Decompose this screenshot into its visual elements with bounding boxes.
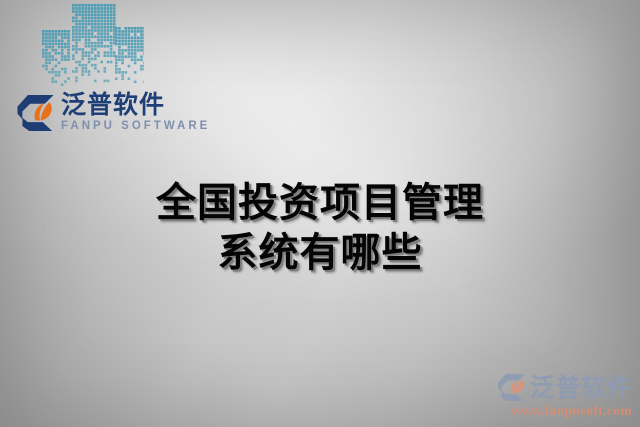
page-title-line-2: 系统有哪些 (0, 228, 640, 278)
promo-banner: 泛普软件 FANPU SOFTWARE 全国投资项目管理 系统有哪些 泛普软件 … (0, 0, 640, 427)
watermark: 泛普软件 www.fanpusoft.com (472, 373, 632, 419)
fanpu-watermark-mark (497, 373, 526, 402)
brand-logo: 泛普软件 FANPU SOFTWARE (16, 92, 210, 133)
watermark-brand-row: 泛普软件 (472, 373, 632, 402)
pixel-cityscape-graphic (40, 0, 144, 86)
fanpu-logo-mark (16, 93, 55, 133)
brand-logo-text: 泛普软件 FANPU SOFTWARE (61, 92, 210, 132)
brand-name-cn: 泛普软件 (61, 92, 210, 118)
page-title: 全国投资项目管理 系统有哪些 (0, 178, 640, 278)
watermark-url: www.fanpusoft.com (472, 403, 632, 419)
page-title-line-1: 全国投资项目管理 (0, 178, 640, 228)
watermark-brand-name: 泛普软件 (530, 375, 632, 400)
brand-name-en: FANPU SOFTWARE (61, 120, 210, 132)
